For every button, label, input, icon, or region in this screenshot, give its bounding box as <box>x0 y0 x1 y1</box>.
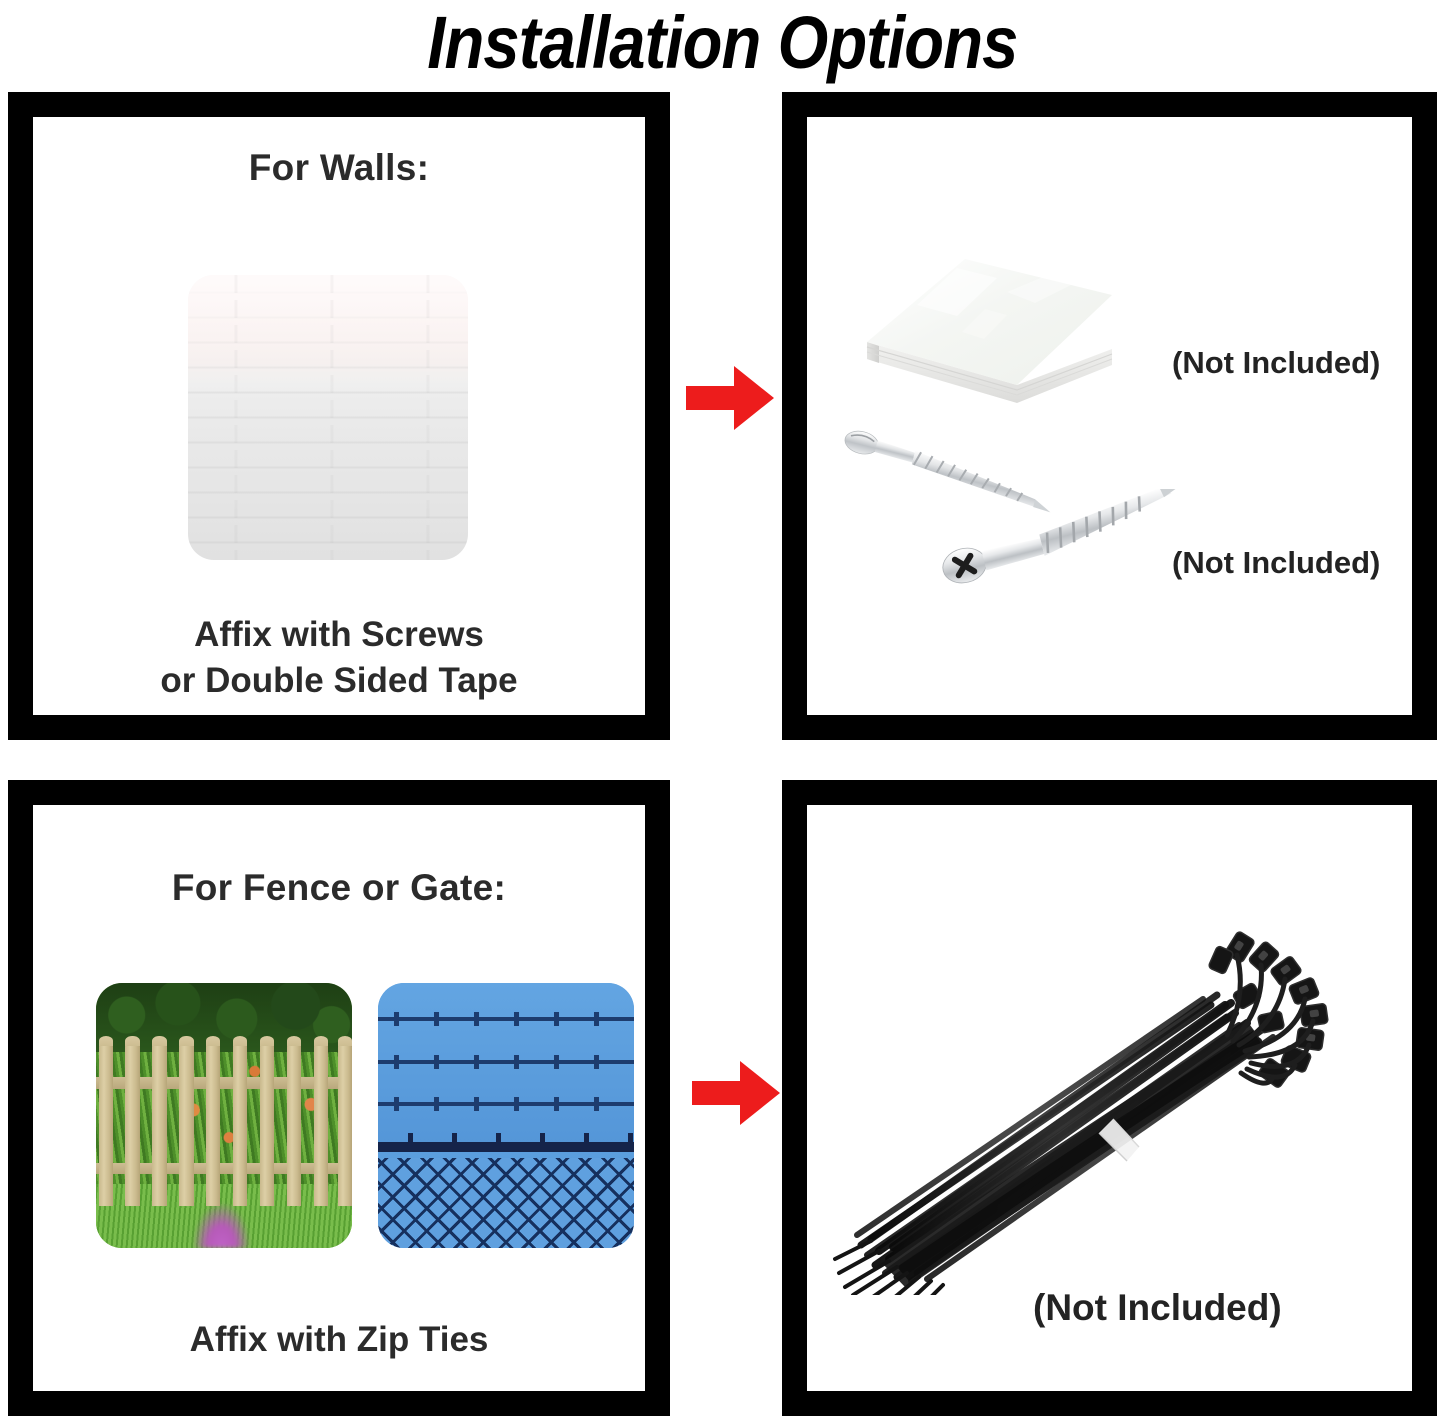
black-zip-tie-bundle-image <box>827 895 1367 1295</box>
panel-for-walls: For Walls: Affix with Screws or Double S… <box>8 92 670 740</box>
tape-not-included-label: (Not Included) <box>1172 345 1380 381</box>
wooden-picket-fence-photo <box>96 983 352 1248</box>
screws-not-included-label: (Not Included) <box>1172 545 1380 581</box>
page-title-bar: Installation Options <box>0 0 1445 86</box>
whitewashed-brick-wall-photo <box>188 275 468 560</box>
for-walls-caption-line-1: Affix with Screws <box>33 612 645 658</box>
panel-zip-ties: (Not Included) <box>782 780 1437 1416</box>
for-fence-caption: Affix with Zip Ties <box>33 1317 645 1363</box>
red-right-arrow-bottom <box>690 1057 782 1129</box>
zip-ties-not-included-label: (Not Included) <box>1033 1287 1282 1329</box>
panel-for-fence-or-gate: For Fence or Gate: <box>8 780 670 1416</box>
double-sided-tape-stack-image <box>857 237 1122 417</box>
barbed-wire-chain-link-fence-photo <box>378 983 634 1248</box>
panel-hardware: (Not Included) <box>782 92 1437 740</box>
for-walls-caption-line-2: or Double Sided Tape <box>33 658 645 704</box>
for-walls-heading: For Walls: <box>33 147 645 189</box>
page-title: Installation Options <box>427 6 1017 80</box>
for-walls-caption: Affix with Screws or Double Sided Tape <box>33 612 645 704</box>
phillips-wood-screw-image <box>927 489 1207 604</box>
for-fence-heading: For Fence or Gate: <box>33 867 645 909</box>
red-right-arrow-top <box>684 362 776 434</box>
